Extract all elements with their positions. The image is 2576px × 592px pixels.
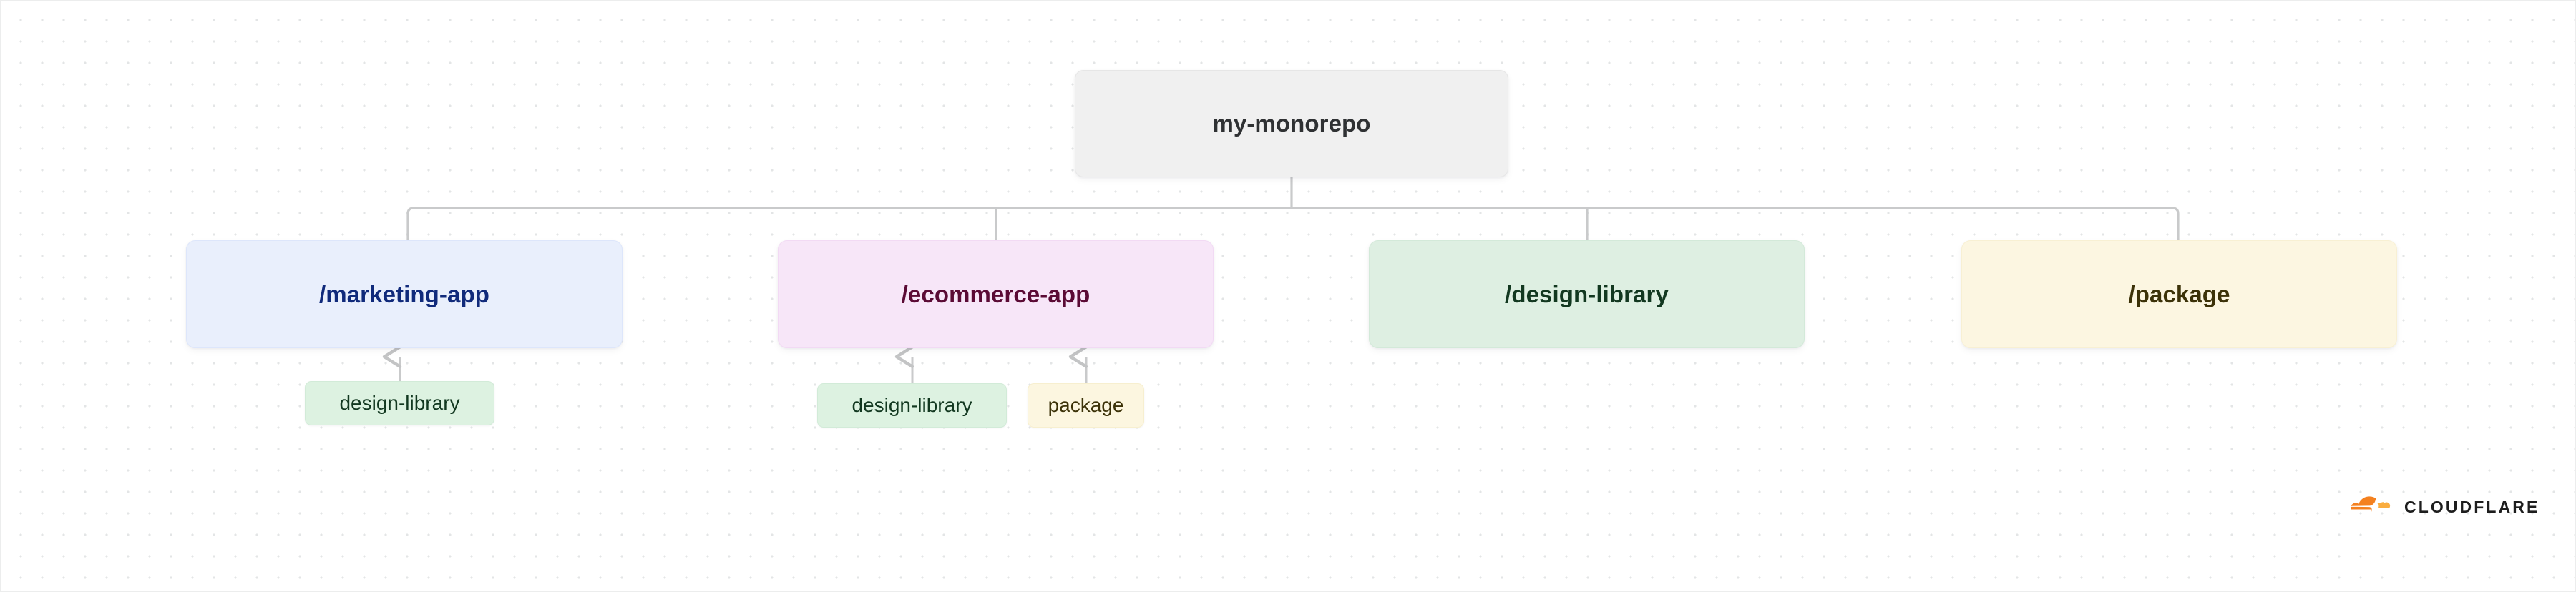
node-package[interactable]: /package xyxy=(1961,240,2397,348)
node-my-monorepo[interactable]: my-monorepo xyxy=(1075,70,1508,177)
dependency-chip-ecommerce-package[interactable]: package xyxy=(1028,383,1144,428)
node-label: /package xyxy=(2128,281,2230,308)
dependency-chip-label: design-library xyxy=(852,394,972,417)
cloudflare-cloud-icon xyxy=(2351,495,2395,520)
cloudflare-wordmark: CLOUDFLARE xyxy=(2404,499,2540,515)
node-label: /design-library xyxy=(1505,281,1669,308)
node-label: /ecommerce-app xyxy=(902,281,1091,308)
edge-bus xyxy=(408,208,2178,240)
node-ecommerce-app[interactable]: /ecommerce-app xyxy=(778,240,1214,348)
dependency-chip-ecommerce-design-library[interactable]: design-library xyxy=(817,383,1007,428)
dependency-chip-marketing-design-library[interactable]: design-library xyxy=(305,381,494,425)
diagram-canvas[interactable]: my-monorepo /marketing-app /ecommerce-ap… xyxy=(0,0,2576,592)
cloudflare-logo: CLOUDFLARE xyxy=(2351,490,2529,524)
node-marketing-app[interactable]: /marketing-app xyxy=(186,240,623,348)
dependency-chip-label: design-library xyxy=(339,392,459,415)
dependency-chip-label: package xyxy=(1048,394,1124,417)
node-design-library[interactable]: /design-library xyxy=(1369,240,1805,348)
node-label: /marketing-app xyxy=(319,281,489,308)
node-label: my-monorepo xyxy=(1212,110,1370,137)
